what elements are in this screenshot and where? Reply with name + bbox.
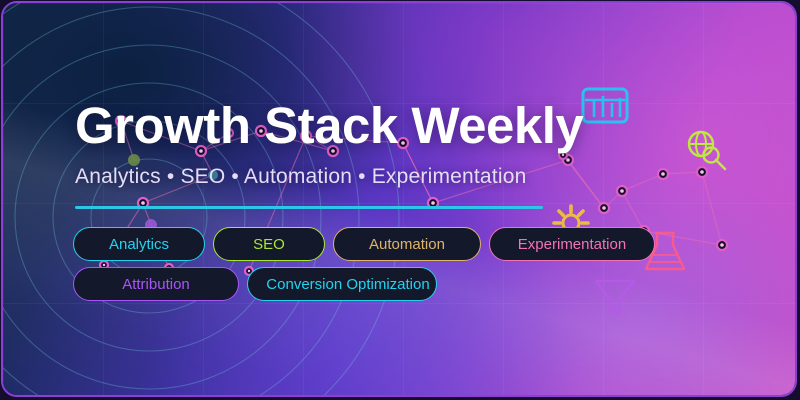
headline-block: Growth Stack Weekly Analytics • SEO • Au… <box>75 99 695 189</box>
title-underline <box>75 206 543 209</box>
topic-pill-automation[interactable]: Automation <box>333 227 481 261</box>
topic-pill-label: Attribution <box>122 276 190 293</box>
topic-pill-conversion-optimization[interactable]: Conversion Optimization <box>247 267 437 301</box>
topic-pill-row-1: AnalyticsSEOAutomationExperimentation <box>73 227 693 261</box>
topic-pill-label: Experimentation <box>518 236 626 253</box>
topic-pill-experimentation[interactable]: Experimentation <box>489 227 655 261</box>
topic-pill-attribution[interactable]: Attribution <box>73 267 239 301</box>
topic-pill-group: AnalyticsSEOAutomationExperimentation At… <box>73 227 693 307</box>
topic-pill-label: Conversion Optimization <box>266 276 429 293</box>
decorative-icons-layer <box>3 3 795 395</box>
topic-pill-analytics[interactable]: Analytics <box>73 227 205 261</box>
page-subtitle: Analytics • SEO • Automation • Experimen… <box>75 165 695 189</box>
topic-pill-label: SEO <box>253 236 285 253</box>
topic-pill-label: Analytics <box>109 236 169 253</box>
topic-pill-row-2: AttributionConversion Optimization <box>73 267 693 301</box>
topic-pill-label: Automation <box>369 236 445 253</box>
banner-root: Growth Stack Weekly Analytics • SEO • Au… <box>0 0 800 400</box>
topic-pill-seo[interactable]: SEO <box>213 227 325 261</box>
banner-frame: Growth Stack Weekly Analytics • SEO • Au… <box>1 1 797 397</box>
page-title: Growth Stack Weekly <box>75 99 695 153</box>
